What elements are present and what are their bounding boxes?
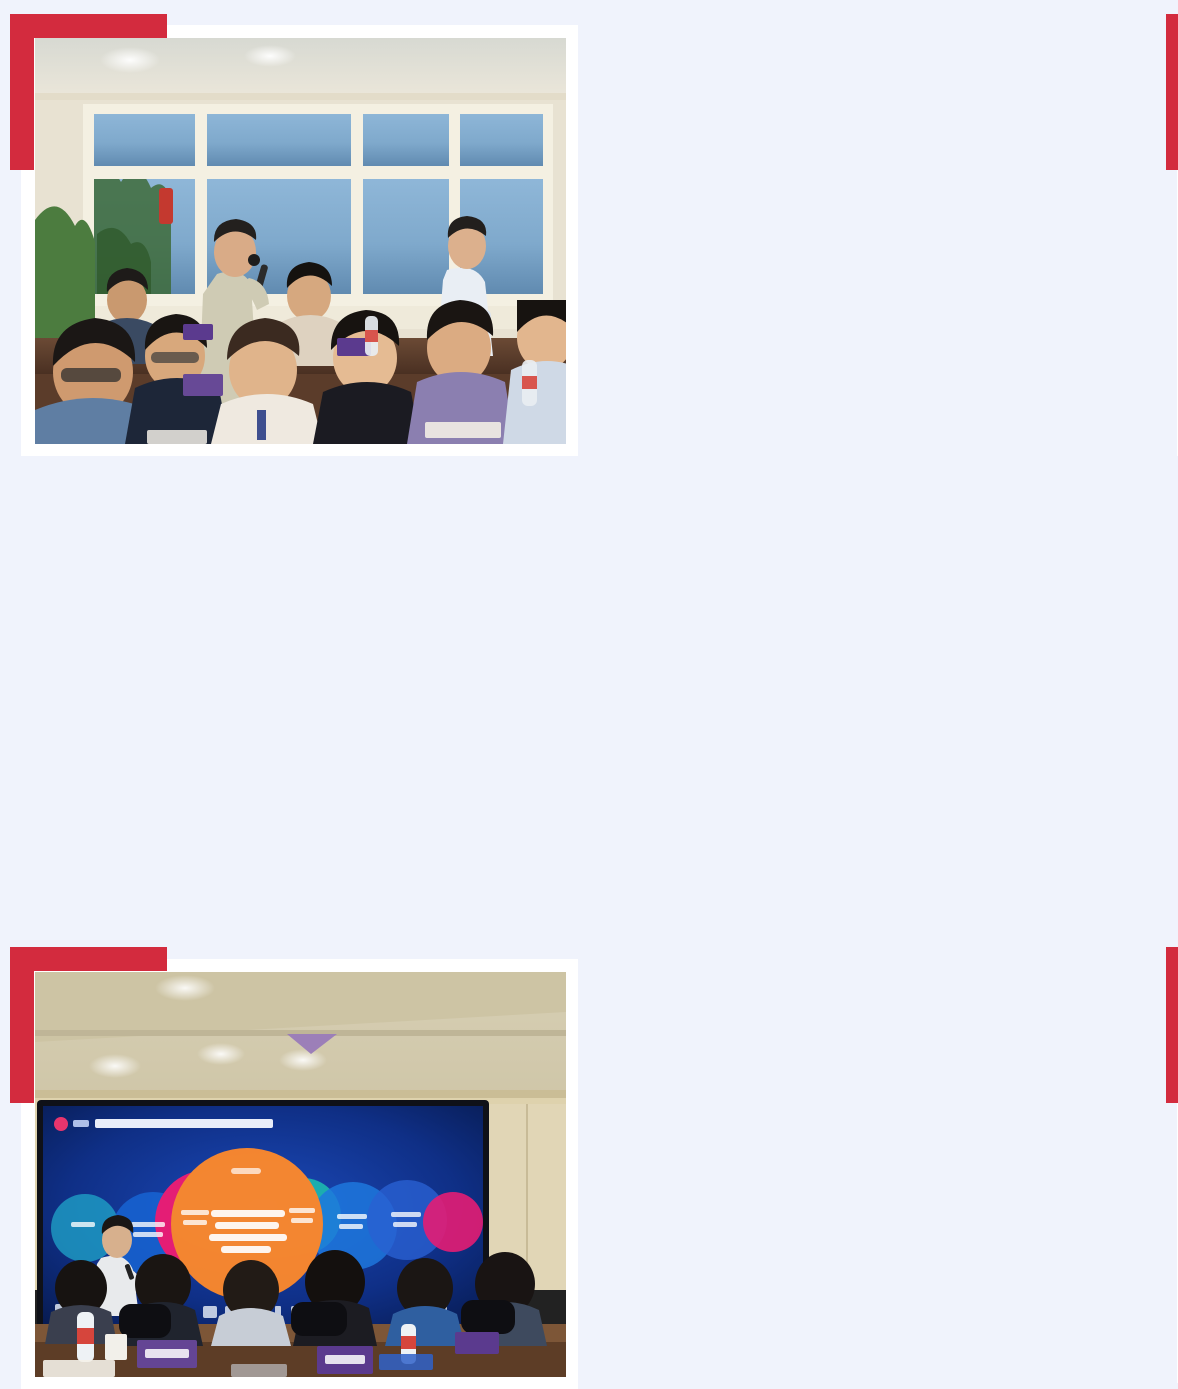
photo-top-left[interactable]: 培训会议室内一位站立的男士手持话筒发言，周围参会人员坐在会议桌旁聆听: [35, 38, 566, 444]
photo-card-top-left[interactable]: 培训会议室内一位站立的男士手持话筒发言，周围参会人员坐在会议桌旁聆听: [21, 25, 578, 456]
photo-bottom-left[interactable]: 大屏幕显示互动词云气泡图，讲师手持话筒站在屏幕前，学员坐在前排: [35, 972, 566, 1377]
collage-cell-bottom-right: 两位参会者在投影屏幕前交流讨论，屏幕上为粉紫色课件页，右侧为白板: [578, 470, 1178, 937]
collage-cell-bottom-left: 大屏幕显示互动词云气泡图，讲师手持话筒站在屏幕前，学员坐在前排: [0, 470, 578, 937]
collage-cell-top-right: 阶梯教室内讲师在讲台授课，投影屏幕显示饼状图与组织架构图课件: [578, 0, 1178, 470]
collage-cell-top-left: 培训会议室内一位站立的男士手持话筒发言，周围参会人员坐在会议桌旁聆听: [0, 0, 578, 470]
photo-collage: 培训会议室内一位站立的男士手持话筒发言，周围参会人员坐在会议桌旁聆听: [0, 0, 1178, 937]
photo-card-bottom-left[interactable]: 大屏幕显示互动词云气泡图，讲师手持话筒站在屏幕前，学员坐在前排: [21, 959, 578, 1389]
